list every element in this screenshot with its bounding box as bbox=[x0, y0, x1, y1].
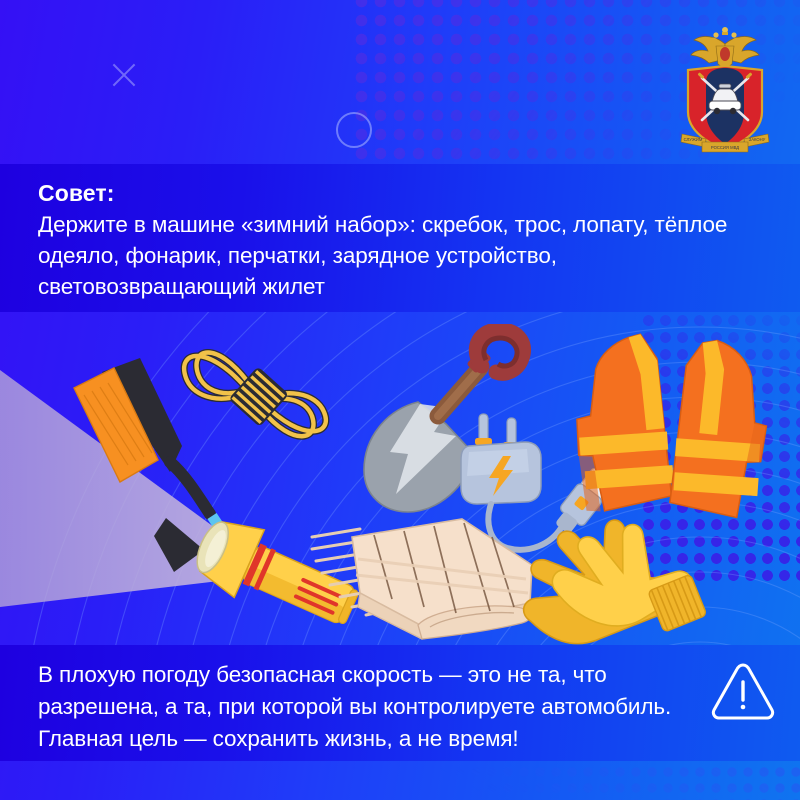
tow-rope-coil bbox=[168, 326, 348, 466]
tip-label: Совет: bbox=[38, 180, 115, 207]
tip-band: Совет: Держите в машине «зимний набор»: … bbox=[0, 164, 800, 312]
poster-root: СЛУЖИМ ЗАКОНУ РОССИЯ МВД Совет: Держите … bbox=[0, 0, 800, 800]
bottom-message-text: В плохую погоду безопасная скорость — эт… bbox=[38, 659, 688, 755]
svg-text:СЛУЖИМ: СЛУЖИМ bbox=[684, 137, 703, 142]
svg-text:РОССИЯ МВД: РОССИЯ МВД bbox=[711, 145, 739, 150]
tip-body-text: Держите в машине «зимний набор»: скребок… bbox=[38, 209, 758, 302]
svg-text:ЗАКОНУ: ЗАКОНУ bbox=[749, 137, 766, 142]
gibdd-emblem: СЛУЖИМ ЗАКОНУ РОССИЯ МВД bbox=[672, 26, 778, 154]
x-mark-decoration bbox=[108, 60, 138, 90]
bottom-message-band: В плохую погоду безопасная скорость — эт… bbox=[0, 645, 800, 761]
ring-outline-decoration bbox=[336, 112, 372, 148]
illustration-stage bbox=[0, 312, 800, 645]
warning-triangle-icon bbox=[710, 660, 776, 722]
reflective-vest bbox=[568, 322, 768, 532]
